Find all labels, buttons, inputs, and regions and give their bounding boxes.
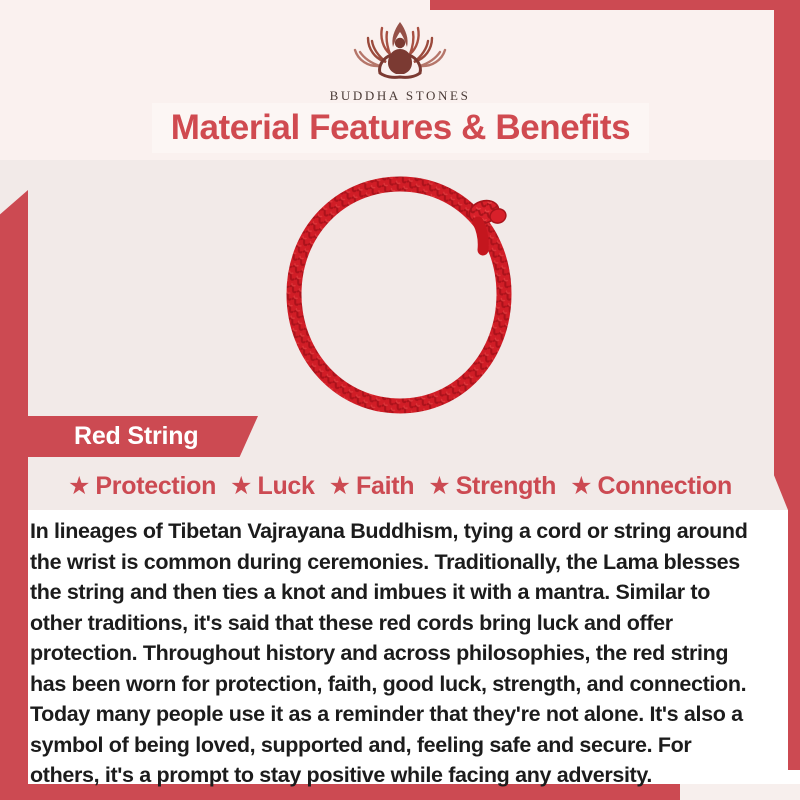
benefit-label: Protection [95,472,216,501]
benefit-item-strength: ★ Strength [428,472,556,501]
star-icon: ★ [230,474,252,499]
red-braided-string-bracelet-icon [272,170,528,420]
benefit-label: Connection [597,472,732,501]
lotus-meditation-icon [335,14,465,86]
brand-name: BUDDHA STONES [0,88,800,104]
page-title: Material Features & Benefits [171,108,631,148]
star-icon: ★ [68,474,90,499]
product-label: Red String [74,422,198,451]
product-label-banner: Red String [28,416,258,457]
star-icon: ★ [428,474,450,499]
benefits-row: ★ Protection ★ Luck ★ Faith ★ Strength ★… [0,465,800,507]
frame-accent-right-lower [788,500,800,770]
description-text: In lineages of Tibetan Vajrayana Buddhis… [28,510,772,791]
infographic-root: BUDDHA STONES Material Features & Benefi… [0,0,800,800]
product-image-area [0,160,800,425]
brand-logo: BUDDHA STONES [0,14,800,104]
star-icon: ★ [570,474,592,499]
benefit-label: Faith [356,472,414,501]
title-banner: Material Features & Benefits [152,103,649,153]
star-icon: ★ [329,474,351,499]
benefit-item-faith: ★ Faith [329,472,415,501]
description-panel: In lineages of Tibetan Vajrayana Buddhis… [28,510,772,780]
benefit-label: Luck [257,472,314,501]
frame-accent-top-right [430,0,800,10]
benefit-label: Strength [456,472,556,501]
benefit-item-luck: ★ Luck [230,472,315,501]
benefit-item-protection: ★ Protection [68,472,216,501]
benefit-item-connection: ★ Connection [570,472,732,501]
